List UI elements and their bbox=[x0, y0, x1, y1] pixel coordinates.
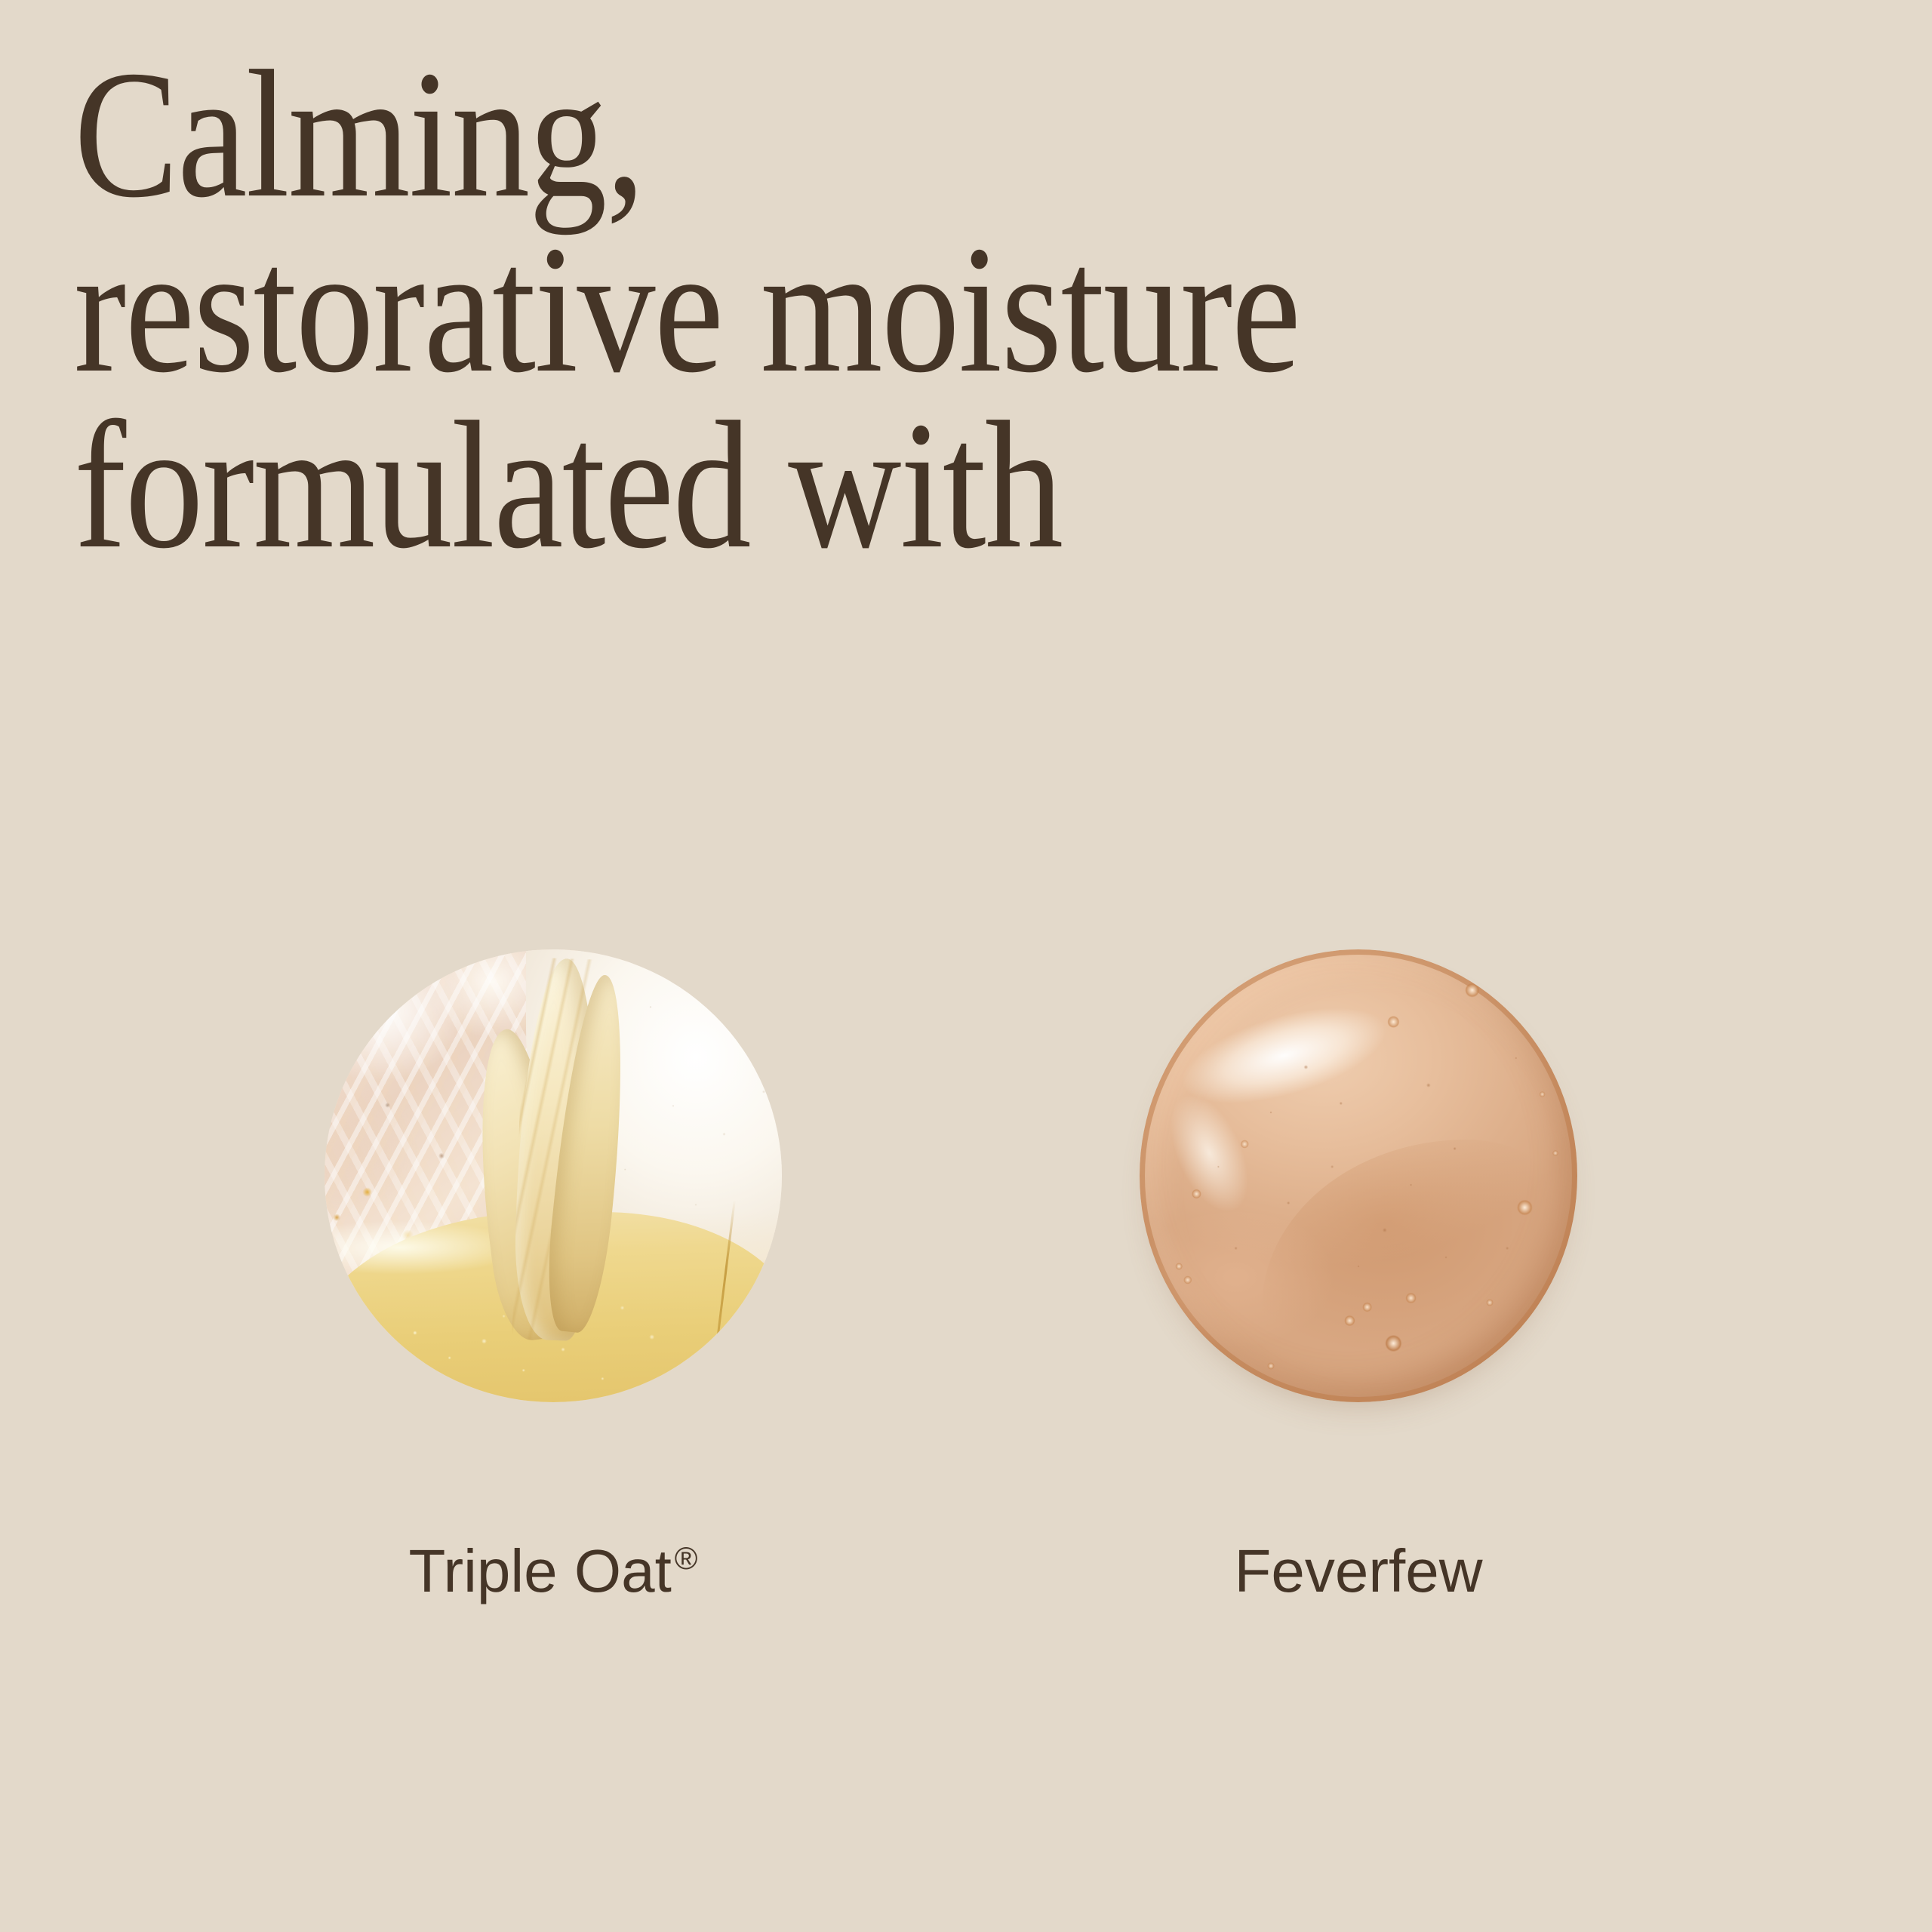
feverfew-gel-droplet-swatch-icon bbox=[1140, 949, 1577, 1402]
ingredient-label-triple-oat: Triple Oat® bbox=[327, 1537, 780, 1606]
ingredient-swatch-row bbox=[0, 949, 1932, 1417]
feverfew-rim bbox=[1140, 949, 1577, 1402]
ingredient-swatch-feverfew bbox=[1140, 949, 1577, 1402]
registered-trademark-icon: ® bbox=[675, 1540, 698, 1576]
headline-line-1: Calming, bbox=[74, 47, 1502, 222]
ingredient-swatch-triple-oat bbox=[325, 949, 782, 1402]
headline-line-3: formulated with bbox=[74, 398, 1502, 573]
ingredient-name-feverfew: Feverfew bbox=[1235, 1537, 1483, 1604]
oat-grain-icon bbox=[489, 958, 635, 1348]
oat-gel-powder-oil-swatch-icon bbox=[325, 949, 782, 1402]
page-title: Calming, restorative moisture formulated… bbox=[74, 47, 1502, 573]
headline-line-2: restorative moisture bbox=[74, 222, 1502, 397]
ingredient-label-feverfew: Feverfew bbox=[1140, 1537, 1577, 1606]
ingredient-name-triple-oat: Triple Oat bbox=[409, 1537, 672, 1604]
